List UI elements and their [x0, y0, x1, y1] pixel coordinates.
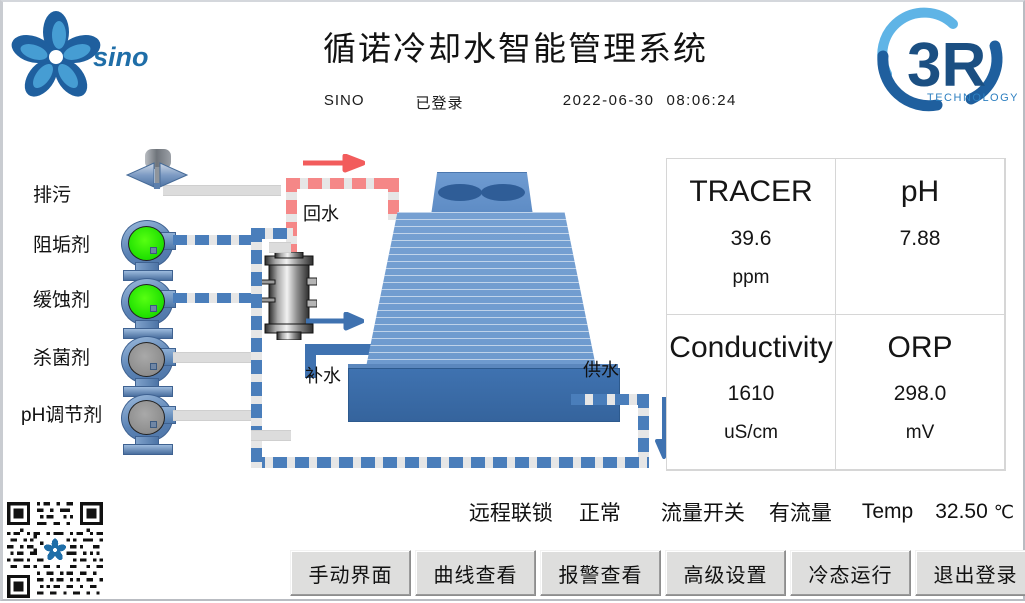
return-water-label: 回水 — [303, 200, 339, 226]
reading-unit: mV — [906, 422, 935, 444]
dosing-line-biocide — [173, 352, 251, 363]
temperature-value: 32.50 — [935, 500, 988, 524]
cooling-tower-body — [365, 212, 597, 372]
cooling-tower-fan-housing — [431, 172, 533, 216]
qr-code — [7, 502, 103, 598]
status-bar: 远程联锁 正常 流量开关 有流量 Temp 32.50 ℃ — [3, 497, 1025, 527]
advanced-settings-button[interactable]: 高级设置 — [665, 550, 786, 596]
device-label-ph-adjuster: pH调节剂 — [21, 400, 102, 427]
return-pipe-top — [286, 178, 399, 189]
reading-unit: uS/cm — [724, 422, 778, 444]
reading-name: TRACER — [689, 173, 812, 211]
pump-status-indicator — [128, 284, 165, 319]
supply-water-label: 供水 — [583, 356, 619, 382]
pump-corrosion-inhibitor[interactable] — [121, 278, 183, 334]
reading-orp: ORP 298.0 mV — [835, 314, 1005, 471]
reading-ph: pH 7.88 — [835, 158, 1005, 315]
flow-switch-label: 流量开关 — [661, 497, 745, 527]
pump-status-indicator — [128, 400, 165, 435]
pump-status-indicator — [128, 342, 165, 377]
reading-name: Conductivity — [669, 329, 832, 367]
blowdown-valve[interactable] — [121, 147, 193, 207]
navigation-button-bar: 手动界面 曲线查看 报警查看 高级设置 冷态运行 退出登录 — [290, 550, 1025, 598]
fan-blade-right — [481, 184, 525, 201]
dosing-line-ph-adjuster — [173, 410, 251, 421]
login-status: 已登录 — [365, 92, 515, 113]
pump-status-indicator — [128, 226, 165, 261]
flow-switch-value: 有流量 — [769, 497, 832, 527]
remote-interlock-value: 正常 — [579, 497, 621, 527]
remote-interlock-label: 远程联锁 — [469, 497, 553, 527]
header-status-row: SINO 已登录 2022-06-30 08:06:24 — [3, 92, 1025, 113]
reading-name: ORP — [887, 329, 952, 367]
cold-start-run-button[interactable]: 冷态运行 — [790, 550, 911, 596]
dosing-line-corrosion-inhibitor — [173, 293, 251, 303]
dosing-line-antiscalant — [173, 235, 251, 245]
reading-value: 7.88 — [900, 227, 941, 251]
supply-pipe-bottom — [251, 457, 649, 468]
logout-button[interactable]: 退出登录 — [915, 550, 1025, 596]
pump-base — [123, 444, 173, 455]
makeup-water-label: 补水 — [305, 362, 341, 388]
device-label-antiscalant: 阻垢剂 — [33, 230, 90, 257]
page-title: 循诺冷却水智能管理系统 — [3, 22, 1025, 70]
reading-value: 39.6 — [731, 227, 772, 251]
trend-view-button[interactable]: 曲线查看 — [415, 550, 536, 596]
return-flow-arrow — [303, 154, 365, 179]
loop-return-pipe — [251, 430, 291, 441]
current-user: SINO — [245, 92, 365, 113]
system-time: 08:06:24 — [655, 92, 787, 113]
temperature-label: Temp — [862, 500, 913, 524]
pump-biocide[interactable] — [121, 336, 183, 392]
reading-value: 1610 — [728, 382, 775, 406]
reading-name: pH — [901, 173, 939, 211]
supply-pipe-to-analyzer — [251, 228, 293, 239]
application-window: sino 3R TECHNOLOGY 循诺冷却水智能管理系统 SINO 已登录 … — [0, 0, 1025, 601]
makeup-flow-arrow — [306, 312, 364, 337]
measurements-panel: TRACER 39.6 ppm pH 7.88 Conductivity 161… — [666, 158, 1006, 471]
device-label-blowdown: 排污 — [33, 180, 71, 207]
device-label-biocide: 杀菌剂 — [33, 343, 90, 370]
pump-ph-adjuster[interactable] — [121, 394, 183, 450]
temperature-unit: ℃ — [994, 502, 1014, 523]
pump-antiscalant[interactable] — [121, 220, 183, 276]
manual-interface-button[interactable]: 手动界面 — [290, 550, 411, 596]
system-date: 2022-06-30 — [515, 92, 655, 113]
fan-blade-left — [438, 184, 482, 201]
analyzer-inlet-pipe — [269, 242, 291, 253]
alarm-view-button[interactable]: 报警查看 — [540, 550, 661, 596]
reading-tracer: TRACER 39.6 ppm — [666, 158, 836, 315]
reading-unit: ppm — [733, 267, 770, 289]
reading-value: 298.0 — [894, 382, 947, 406]
device-label-corrosion-inhibitor: 缓蚀剂 — [33, 285, 90, 312]
reading-conductivity: Conductivity 1610 uS/cm — [666, 314, 836, 471]
